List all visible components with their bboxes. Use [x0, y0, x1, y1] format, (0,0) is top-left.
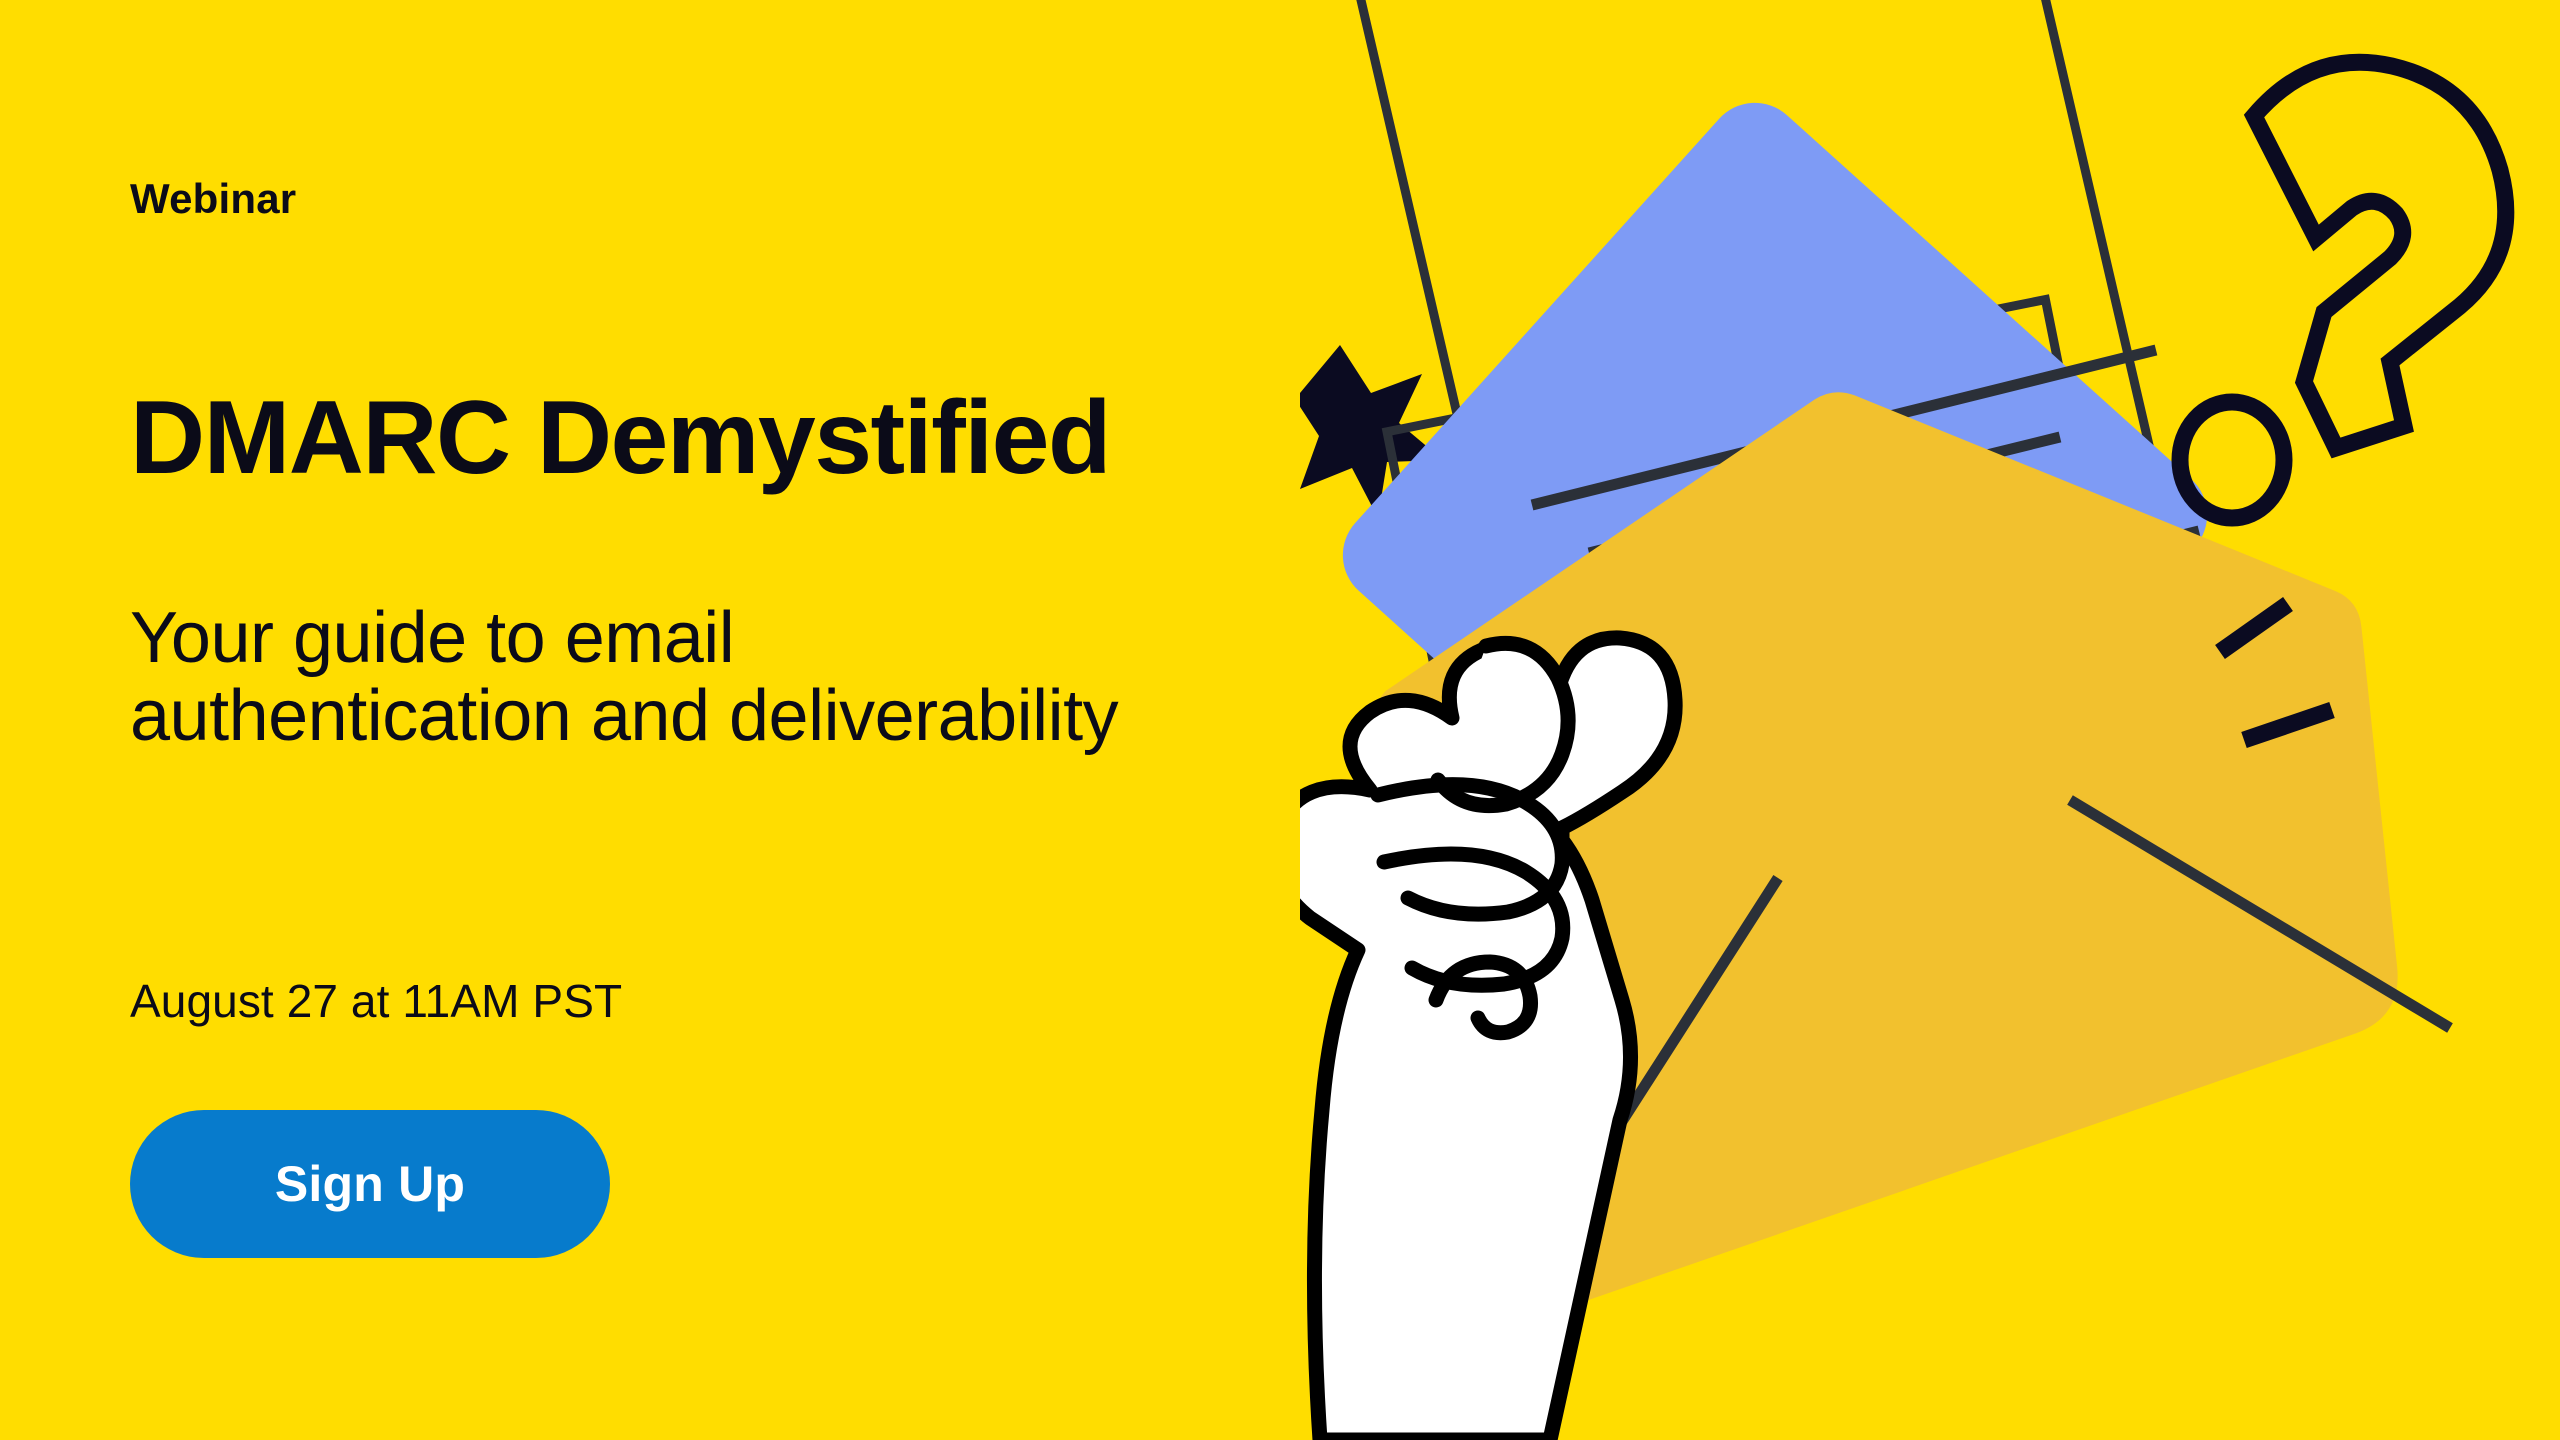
page-title: DMARC Demystified [130, 386, 1110, 490]
subheading: Your guide to email authentication and d… [130, 600, 1150, 756]
sign-up-button[interactable]: Sign Up [130, 1110, 610, 1258]
webinar-promo-banner: Webinar DMARC Demystified Your guide to … [0, 0, 2560, 1440]
eyebrow-label: Webinar [130, 178, 296, 220]
question-mark-dot [2180, 402, 2284, 518]
text-content-column: Webinar DMARC Demystified Your guide to … [130, 0, 1330, 1440]
hand-icon [1300, 638, 1675, 1440]
question-mark-icon [2180, 62, 2506, 518]
event-datetime: August 27 at 11AM PST [130, 978, 622, 1024]
envelope-illustration [1300, 0, 2560, 1440]
